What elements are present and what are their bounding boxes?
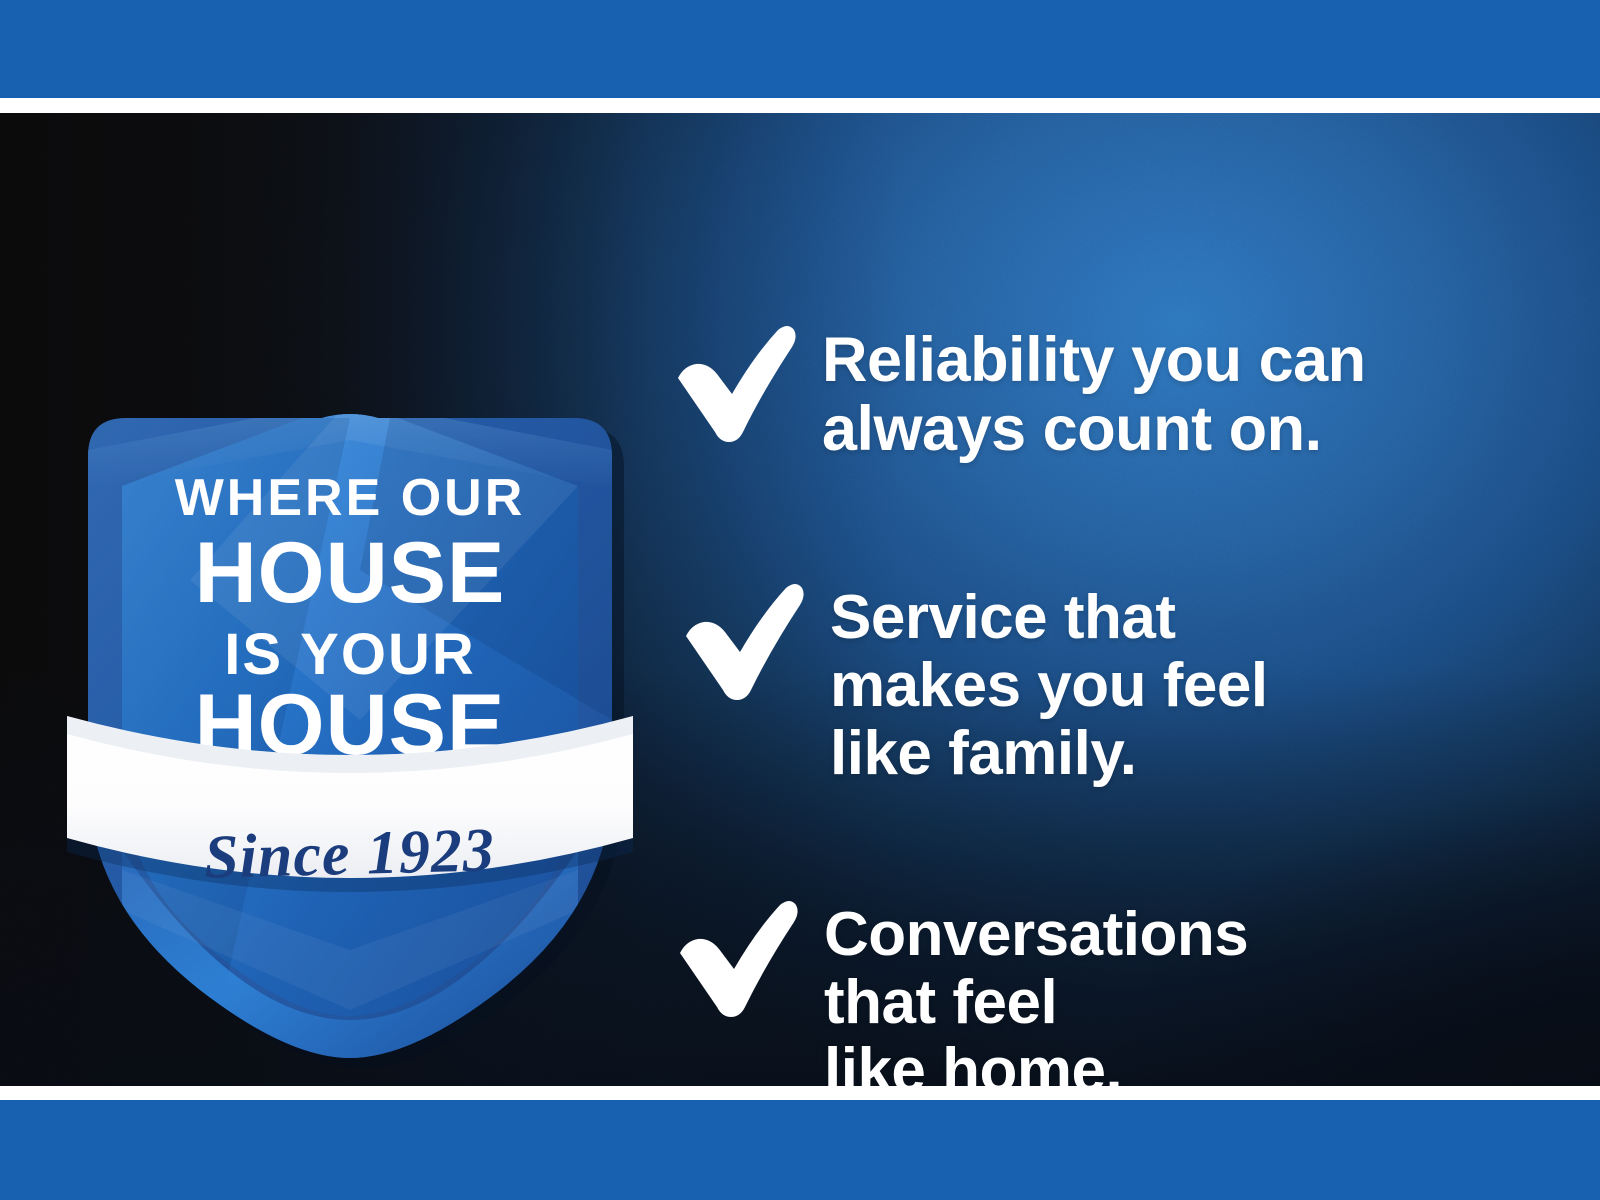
benefits-list: Reliability you can always count on. Ser… — [668, 226, 1548, 1087]
benefit-text-2: Service that makes you feel like family. — [830, 574, 1268, 789]
bottom-brand-bar — [0, 1100, 1600, 1200]
bottom-white-divider — [0, 1086, 1600, 1100]
shield-line-1: WHERE OUR — [175, 469, 526, 527]
check-icon — [668, 316, 800, 444]
promo-poster: WHERE OUR HOUSE IS YOUR HOUSE Since 1923 — [0, 0, 1600, 1200]
top-brand-bar — [0, 0, 1600, 98]
company-shield-badge: WHERE OUR HOUSE IS YOUR HOUSE Since 1923 — [60, 250, 640, 1060]
shield-line-2: HOUSE — [195, 525, 506, 621]
content-stage: WHERE OUR HOUSE IS YOUR HOUSE Since 1923 — [0, 113, 1600, 1087]
benefit-item-3: Conversations that feel like home. — [670, 891, 1248, 1087]
benefit-item-2: Service that makes you feel like family. — [676, 574, 1268, 789]
benefit-text-1: Reliability you can always count on. — [822, 316, 1366, 465]
benefit-text-3: Conversations that feel like home. — [824, 891, 1248, 1087]
top-white-divider — [0, 98, 1600, 113]
check-icon — [676, 574, 808, 702]
check-icon — [670, 891, 802, 1019]
ribbon-since-text: Since 1923 — [203, 816, 495, 892]
benefit-item-1: Reliability you can always count on. — [668, 316, 1366, 465]
